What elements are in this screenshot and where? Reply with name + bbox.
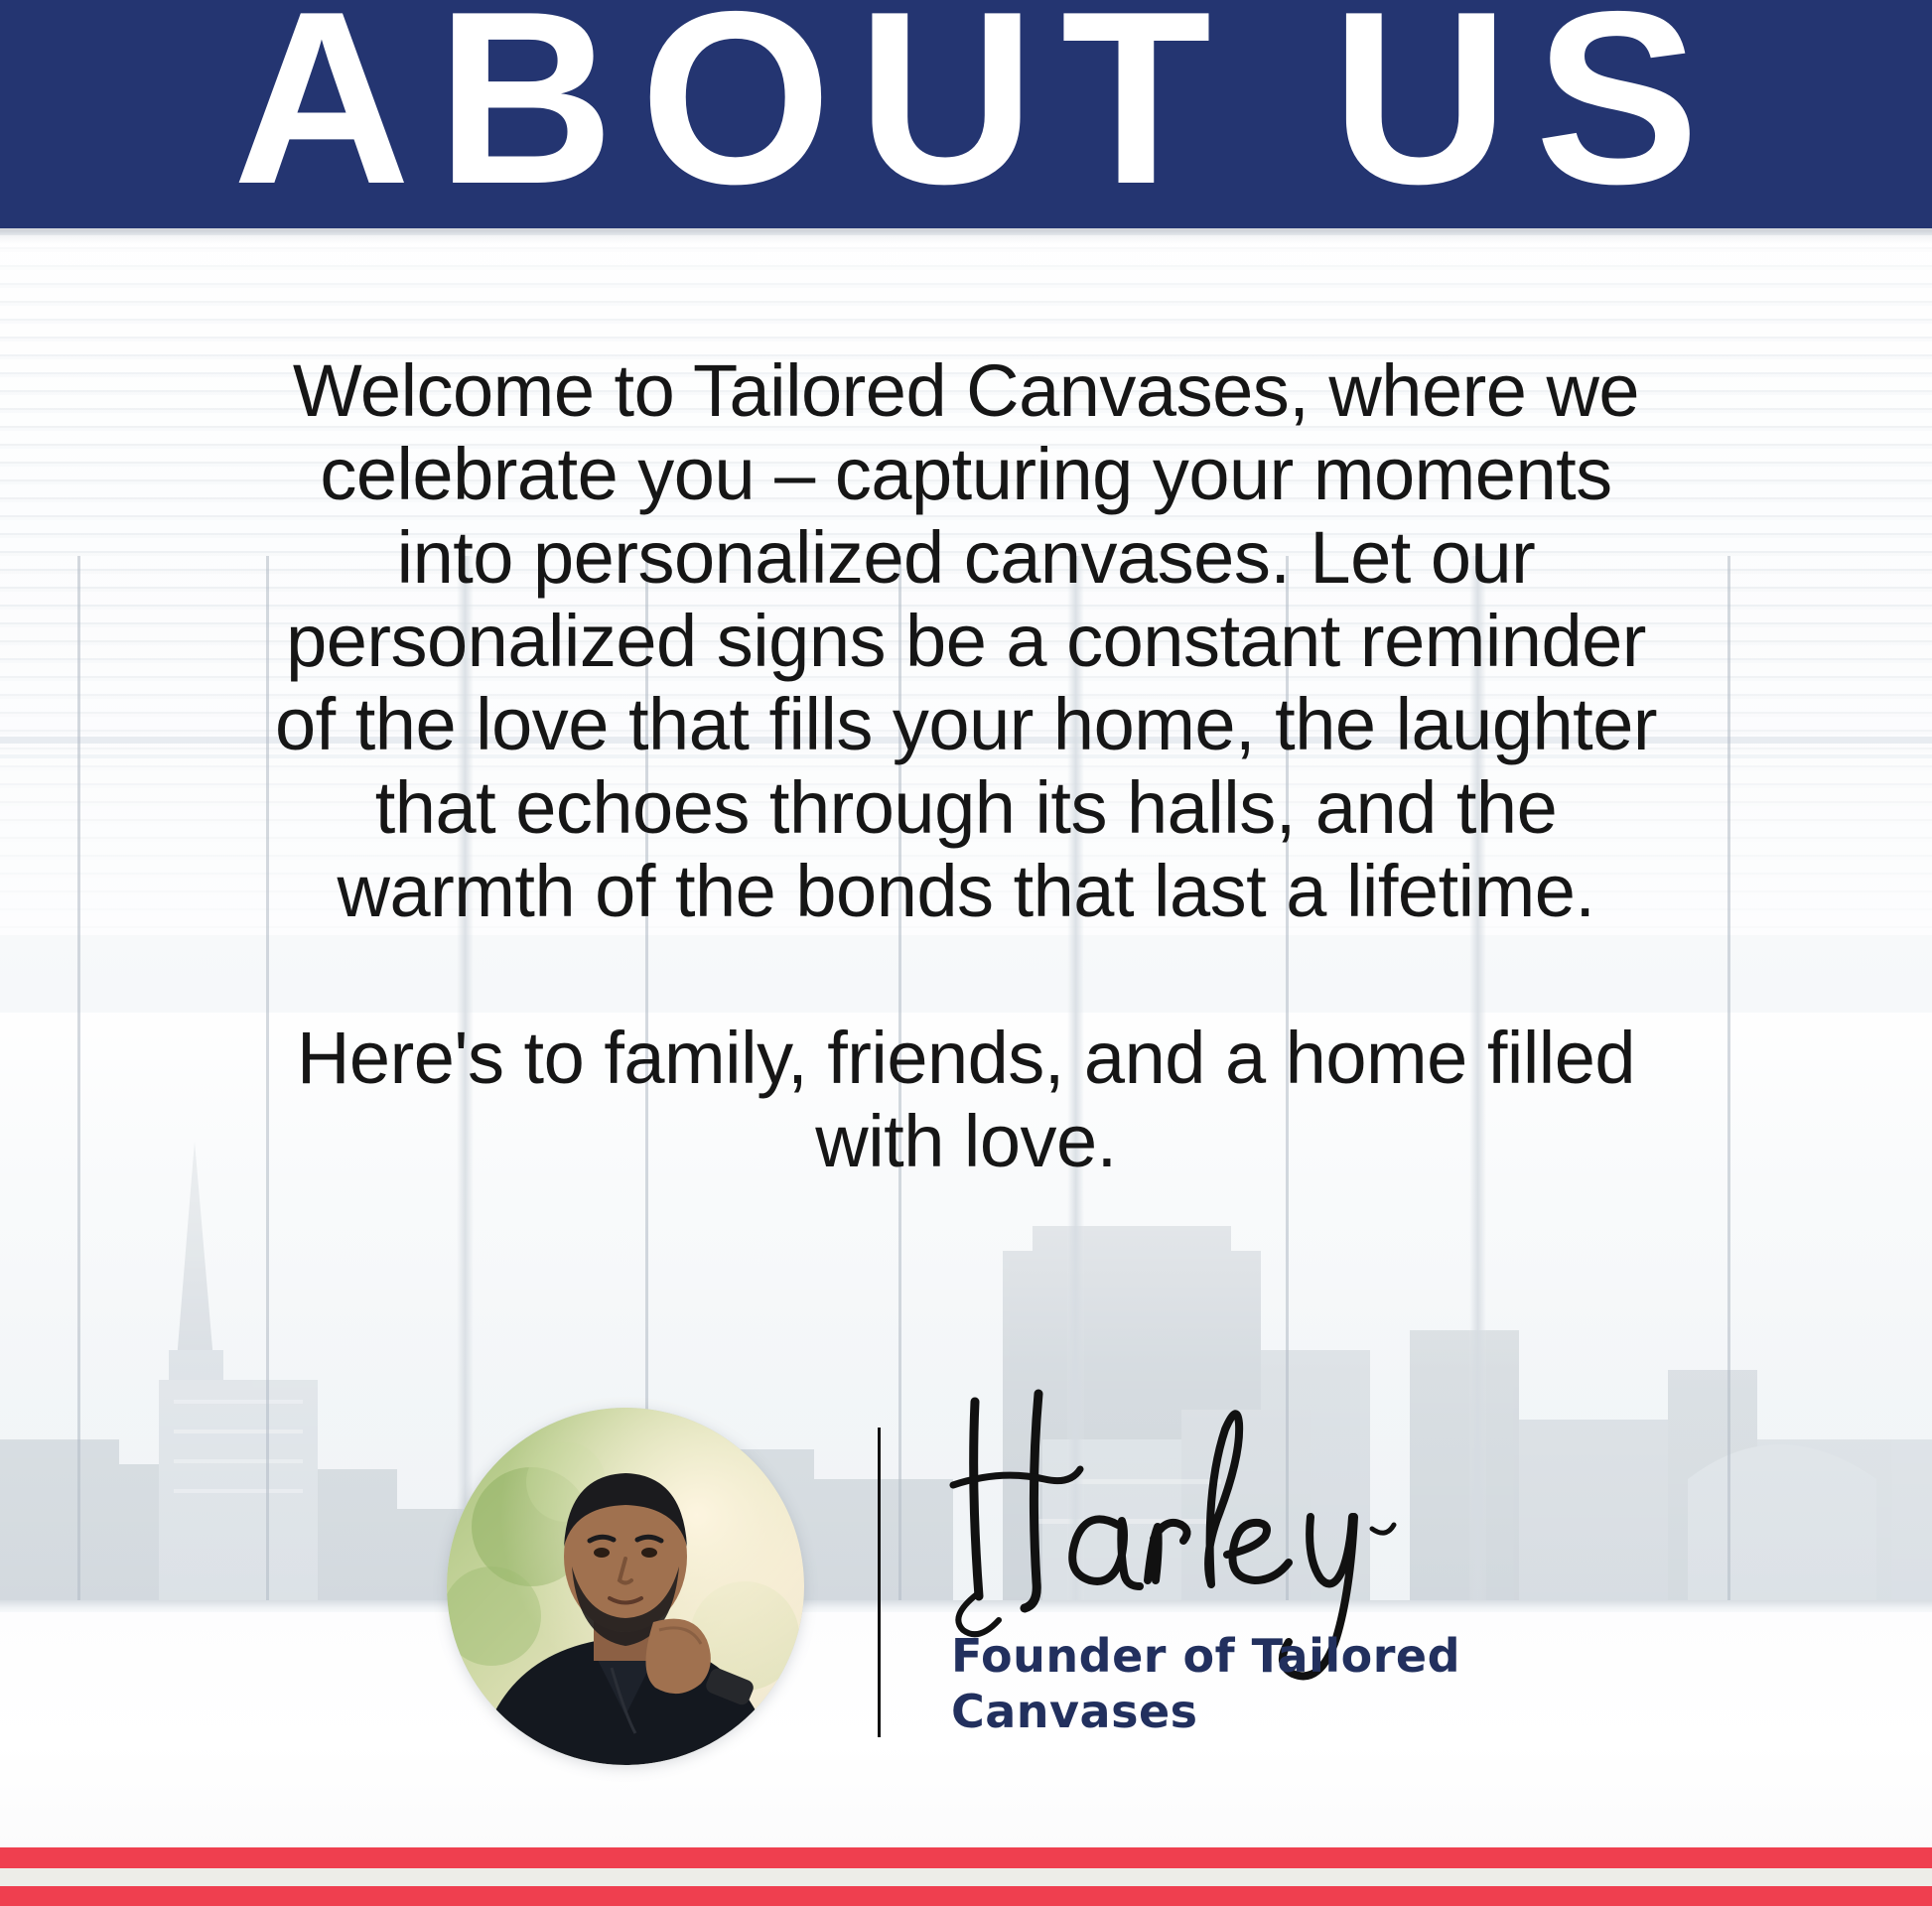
copy-line: that echoes through its halls, and the	[266, 766, 1666, 850]
header-banner: ABOUT US	[0, 0, 1932, 228]
founder-avatar	[447, 1408, 804, 1765]
copy-line: into personalized canvases. Let our	[266, 516, 1666, 600]
founder-role: Founder of Tailored Canvases	[951, 1628, 1587, 1739]
copy-line: with love.	[266, 1100, 1666, 1183]
window-mullion	[77, 556, 80, 1608]
footer-stripe-bottom	[0, 1886, 1932, 1906]
footer-stripe-top	[0, 1847, 1932, 1868]
copy-line: Welcome to Tailored Canvases, where we	[266, 349, 1666, 433]
copy-line: Here's to family, friends, and a home fi…	[266, 1017, 1666, 1100]
copy-line: warmth of the bonds that last a lifetime…	[266, 850, 1666, 933]
about-us-copy: Welcome to Tailored Canvases, where we c…	[266, 349, 1666, 1183]
founder-role-line-2: Canvases	[951, 1684, 1587, 1739]
copy-line: personalized signs be a constant reminde…	[266, 600, 1666, 683]
banner-drop-shadow	[0, 228, 1932, 244]
page-title: ABOUT US	[0, 0, 1932, 220]
window-mullion	[1727, 556, 1730, 1608]
copy-line: of the love that fills your home, the la…	[266, 683, 1666, 766]
paragraph-gap	[266, 933, 1666, 1017]
founder-role-line-1: Founder of Tailored	[951, 1628, 1587, 1684]
copy-line: celebrate you – capturing your moments	[266, 433, 1666, 516]
signature-divider	[878, 1428, 881, 1737]
about-us-graphic: ABOUT US Welcome to Tailored Canvases, w…	[0, 0, 1932, 1906]
footer-stripe-gap	[0, 1868, 1932, 1886]
